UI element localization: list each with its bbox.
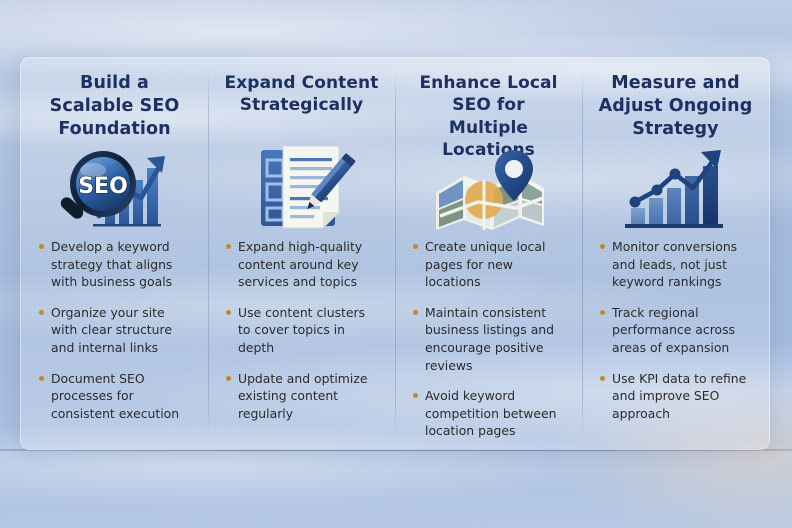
bullet-list: Expand high-quality content around key s… [224,238,379,435]
list-item: Expand high-quality content around key s… [226,238,377,291]
bullet-list: Develop a keyword strategy that aligns w… [37,238,192,435]
bullet-dot-icon [39,376,44,381]
column-build-foundation: Build a Scalable SEO Foundation [21,58,208,449]
map-pin-icon [426,142,552,234]
bullet-list: Create unique local pages for new locati… [411,238,566,453]
list-item: Organize your site with clear structure … [39,304,190,357]
bullet-dot-icon [39,310,44,315]
list-item: Document SEO processes for consistent ex… [39,370,190,423]
bullet-dot-icon [413,244,418,249]
list-item: Monitor conversions and leads, not just … [600,238,751,291]
document-pencil-icon [247,142,357,234]
bullet-dot-icon [226,310,231,315]
list-item: Maintain consistent business listings an… [413,304,564,374]
list-item: Develop a keyword strategy that aligns w… [39,238,190,291]
content-panel: Build a Scalable SEO Foundation [20,57,770,450]
bullet-list: Monitor conversions and leads, not just … [598,238,753,435]
svg-text:SEO: SEO [78,174,128,199]
bullet-dot-icon [600,376,605,381]
bullet-dot-icon [600,244,605,249]
bullet-dot-icon [413,393,418,398]
list-item: Track regional performance across areas … [600,304,751,357]
column-title: Expand Content Strategically [224,72,379,144]
bullet-dot-icon [600,310,605,315]
bullet-dot-icon [226,244,231,249]
column-measure-adjust: Measure and Adjust Ongoing Strategy [582,58,769,449]
column-title: Enhance Local SEO for Multiple Locations [411,72,566,144]
bar-chart-growth-icon [617,142,735,234]
column-local-seo: Enhance Local SEO for Multiple Locations [395,58,582,449]
column-title: Build a Scalable SEO Foundation [37,72,192,144]
bullet-dot-icon [39,244,44,249]
seo-magnifier-icon: SEO [53,142,177,234]
bullet-dot-icon [226,376,231,381]
list-item: Use content clusters to cover topics in … [226,304,377,357]
list-item: Update and optimize existing content reg… [226,370,377,423]
list-item: Use KPI data to refine and improve SEO a… [600,370,751,423]
column-title: Measure and Adjust Ongoing Strategy [598,72,753,144]
list-item: Avoid keyword competition between locati… [413,387,564,440]
bullet-dot-icon [413,310,418,315]
column-expand-content: Expand Content Strategically [208,58,395,449]
list-item: Create unique local pages for new locati… [413,238,564,291]
